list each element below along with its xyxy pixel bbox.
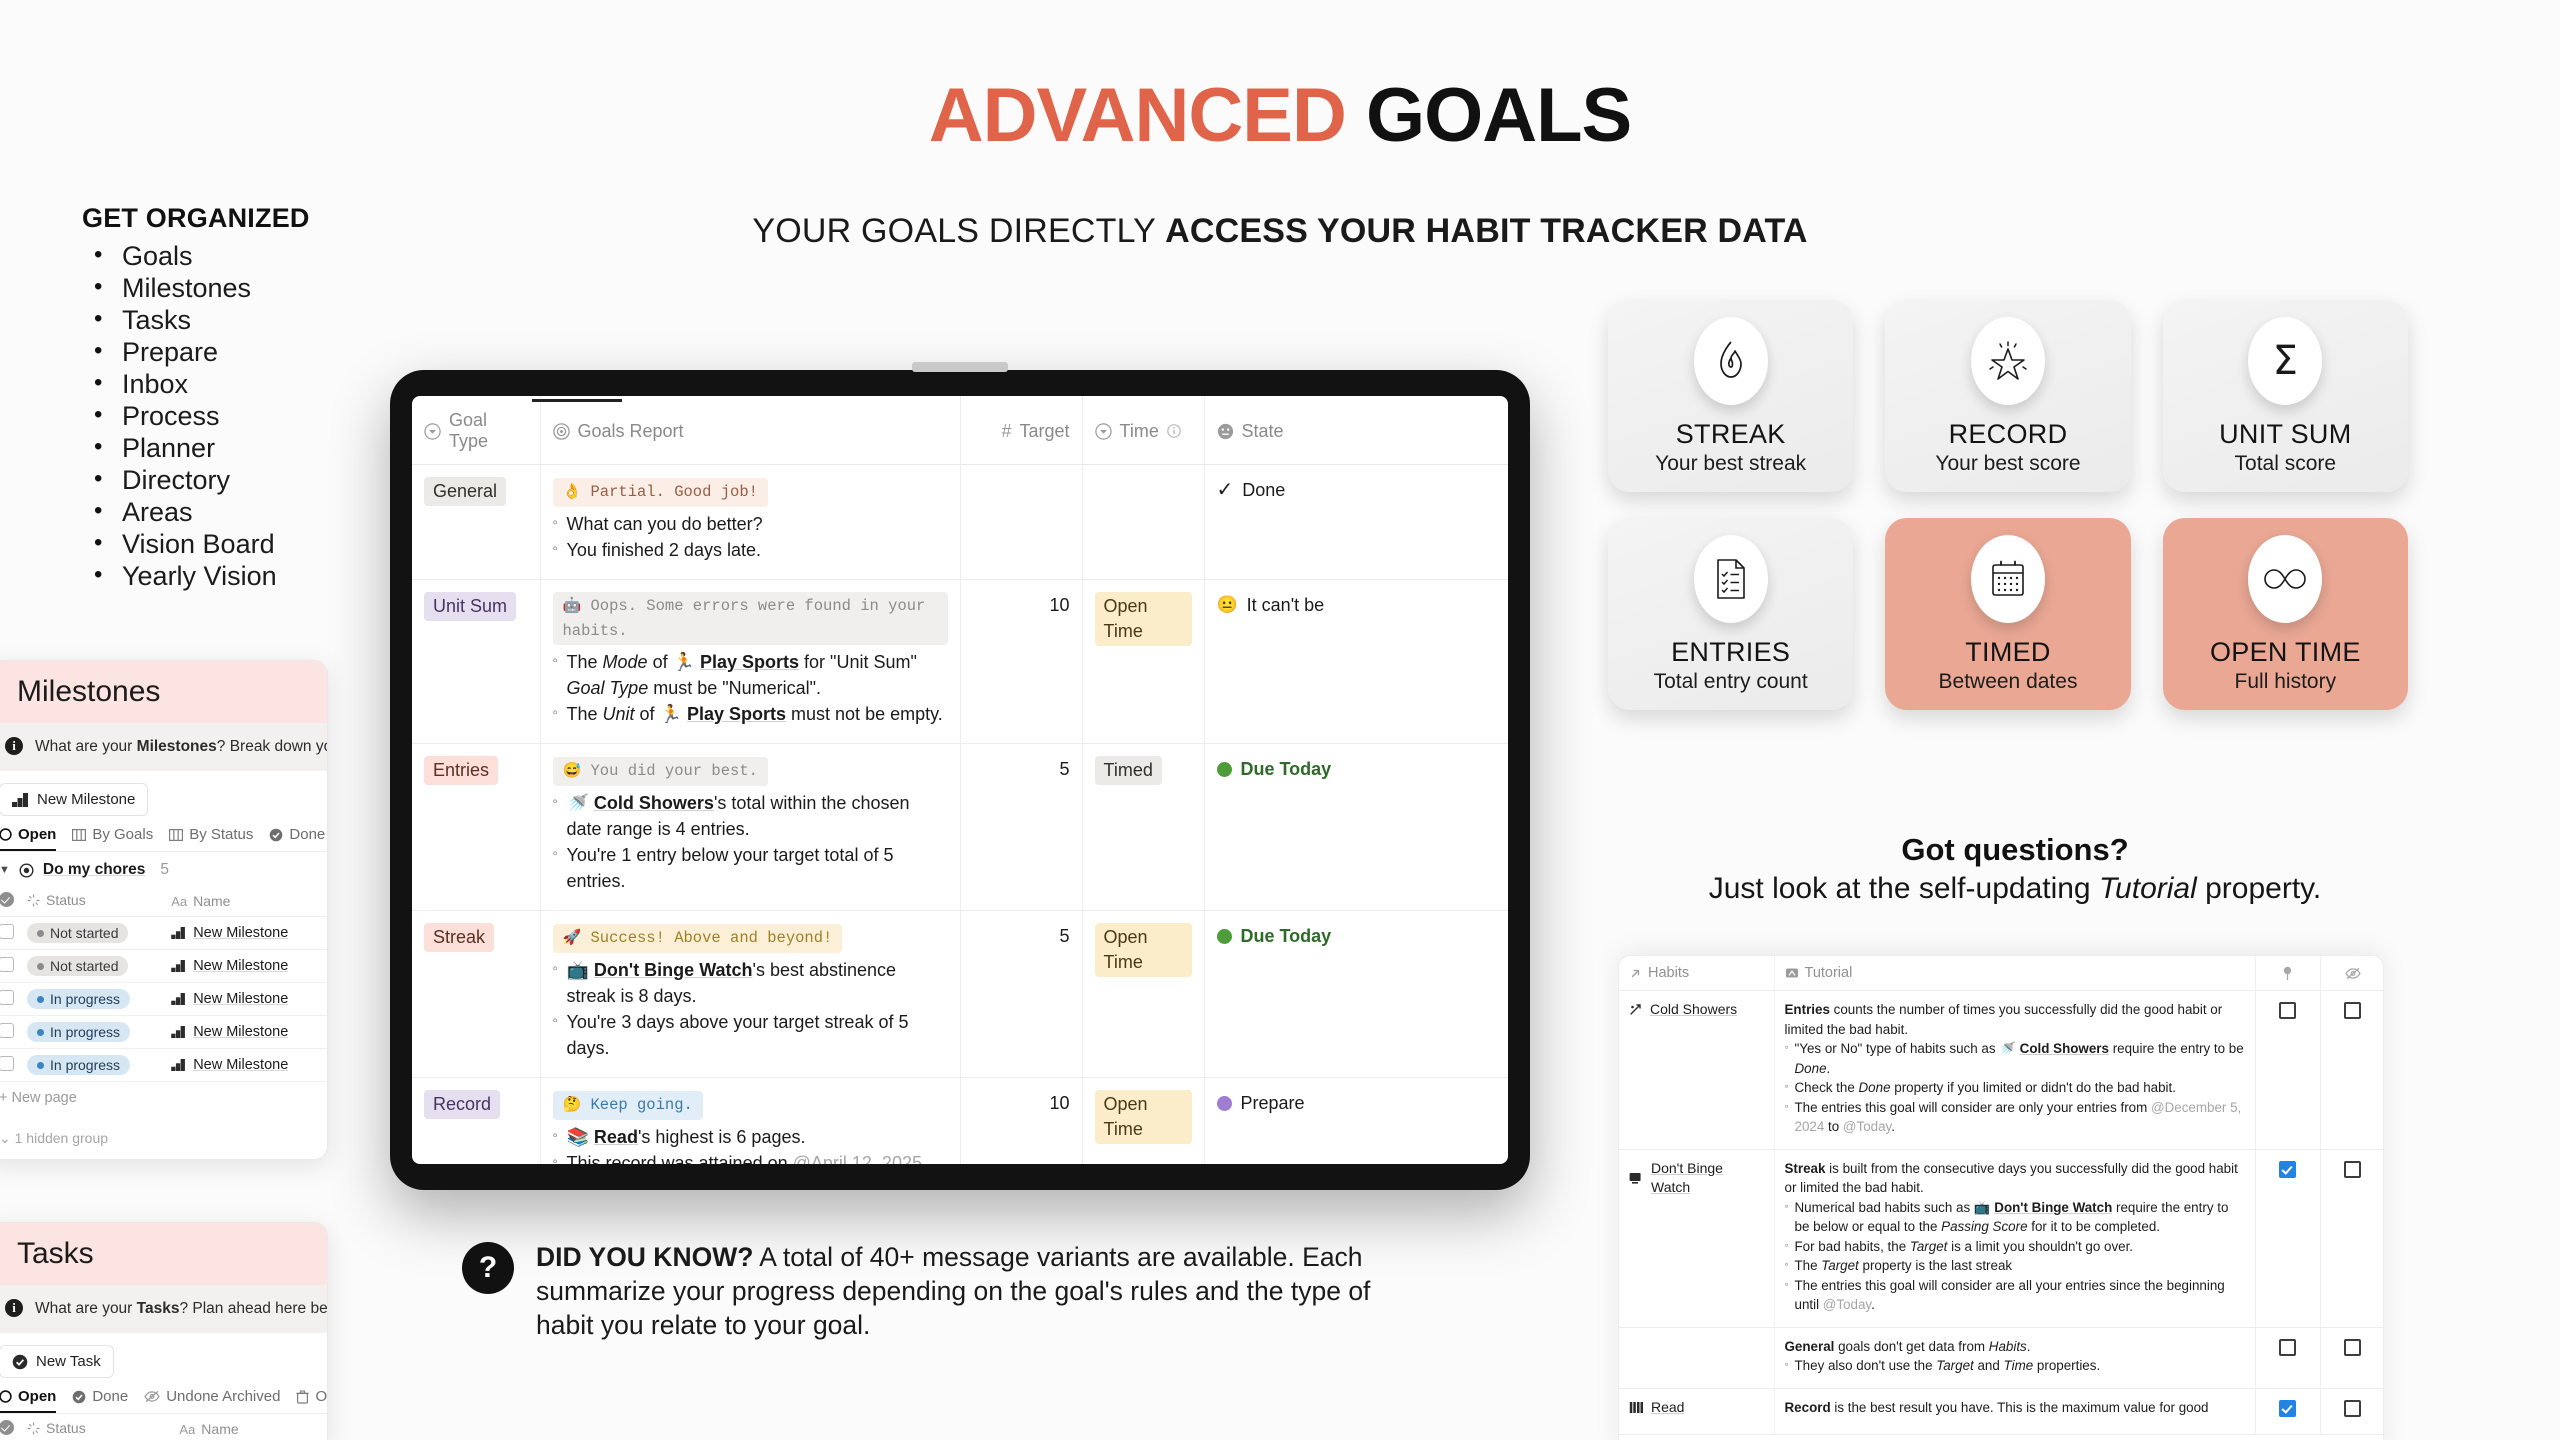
- target-cell[interactable]: 5: [960, 911, 1082, 1078]
- habit-name[interactable]: Read: [1629, 1398, 1764, 1418]
- checklist-doc-icon: [1714, 558, 1748, 600]
- tutorial-pin-cell[interactable]: [2255, 1149, 2320, 1327]
- gq-before: Just look at the self-updating: [1709, 872, 2099, 905]
- shower-icon: [1629, 1003, 1643, 1017]
- goal-type-cell[interactable]: Record: [412, 1078, 540, 1165]
- milestone-icon: [171, 1059, 186, 1071]
- card-icon-bubble: [1971, 535, 2045, 623]
- table-row[interactable]: In progressNew Milestone: [0, 1016, 327, 1049]
- table-row[interactable]: Unit Sum🤖 Oops. Some errors were found i…: [412, 580, 1508, 744]
- tab-open-label: Open: [18, 826, 56, 843]
- state-cell[interactable]: 😐It can't be: [1204, 580, 1508, 744]
- target-cell[interactable]: 5: [960, 744, 1082, 911]
- card-unit-sum-title: UNIT SUM: [2219, 419, 2351, 450]
- state-cell[interactable]: ✓Done: [1204, 465, 1508, 580]
- milestone-name: New Milestone: [193, 925, 288, 941]
- tablet-device: Goal Type Goals Report # Target Time: [390, 370, 1530, 1190]
- card-open-time-subtitle: Full history: [2235, 670, 2337, 694]
- get-organized-item: Milestones: [80, 272, 360, 304]
- page-title-accent: ADVANCED: [929, 73, 1346, 158]
- row-status-cell[interactable]: In progress: [21, 1016, 165, 1049]
- milestones-panel-title: Milestones: [17, 675, 160, 709]
- tutorial-table: Habits Tutorial Cold ShowersEntries coun…: [1619, 956, 2384, 1435]
- table-row[interactable]: ReadRecord is the best result you have. …: [1619, 1388, 2384, 1435]
- got-questions-text: Just look at the self-updating Tutorial …: [1600, 872, 2430, 906]
- goals-report-cell[interactable]: 🤖 Oops. Some errors were found in your h…: [540, 580, 960, 744]
- row-checkbox-cell[interactable]: [0, 917, 21, 950]
- table-row[interactable]: Cold ShowersEntries counts the number of…: [1619, 991, 2384, 1150]
- checkbox[interactable]: [0, 957, 14, 972]
- tab-done[interactable]: Done: [269, 826, 325, 851]
- milestones-col-status-label: Status: [46, 892, 86, 908]
- table-row[interactable]: Not startedNew Milestone: [0, 917, 327, 950]
- tutorial-pin-cell[interactable]: [2255, 1388, 2320, 1435]
- eye-off-icon: [2331, 967, 2376, 980]
- goals-col-time-label: Time: [1120, 421, 1159, 442]
- table-row[interactable]: General goals don't get data from Habits…: [1619, 1327, 2384, 1388]
- check-circle-icon[interactable]: [0, 1420, 14, 1435]
- info-icon[interactable]: [1167, 424, 1181, 438]
- checkbox[interactable]: [2279, 1002, 2296, 1019]
- text-icon: Aa: [179, 1422, 195, 1437]
- milestones-group-row[interactable]: ▼ Do my chores 5: [0, 852, 327, 886]
- board-icon: [72, 829, 86, 841]
- tab-undone-archived[interactable]: Undone Archived: [144, 1388, 280, 1413]
- checkbox[interactable]: [2344, 1400, 2361, 1417]
- tutorial-pin-cell[interactable]: [2255, 991, 2320, 1150]
- got-questions-heading: Got questions?: [1600, 832, 2430, 868]
- report-message: 🚀 Success! Above and beyond!: [553, 924, 843, 953]
- goals-report-cell[interactable]: 🤔 Keep going.📚 Read's highest is 6 pages…: [540, 1078, 960, 1165]
- report-message: 🤔 Keep going.: [553, 1091, 703, 1120]
- status-dot-icon: [1217, 929, 1232, 944]
- time-cell[interactable]: Open Time: [1082, 1078, 1204, 1165]
- goal-type-badge: Entries: [424, 756, 498, 785]
- report-message: 👌 Partial. Good job!: [553, 478, 768, 507]
- tab-by-status[interactable]: By Status: [169, 826, 253, 851]
- get-organized-item: Directory: [80, 464, 360, 496]
- tutorial-lead-text: is built from the consecutive days you s…: [1785, 1161, 2238, 1196]
- message-emoji-icon: 🚀: [563, 930, 582, 947]
- card-entries-subtitle: Total entry count: [1654, 670, 1808, 694]
- tutorial-bullet: "Yes or No" type of habits such as 🚿 Col…: [1785, 1039, 2245, 1078]
- chevron-down-icon[interactable]: ▼: [0, 864, 10, 876]
- target-cell[interactable]: 10: [960, 580, 1082, 744]
- tasks-tabbar[interactable]: Open Done Undone Archived Overdue: [0, 1382, 327, 1414]
- card-open-time[interactable]: OPEN TIME Full history: [2163, 518, 2408, 710]
- milestones-group-count: 5: [160, 861, 169, 879]
- select-all-col[interactable]: [0, 886, 21, 917]
- time-cell[interactable]: Open Time: [1082, 911, 1204, 1078]
- card-unit-sum-subtitle: Total score: [2235, 452, 2337, 476]
- check-circle-icon: [12, 1354, 28, 1370]
- status-icon: [27, 1422, 40, 1435]
- table-row[interactable]: In progressNew Milestone: [0, 1049, 327, 1082]
- tutorial-table-header: Habits Tutorial: [1619, 956, 2384, 991]
- tab-done[interactable]: Done: [72, 1388, 128, 1413]
- tutorial-bullet: The entries this goal will consider are …: [1785, 1276, 2245, 1315]
- tasks-col-name[interactable]: Aa Name: [173, 1414, 327, 1440]
- status-badge: Not started: [27, 923, 128, 943]
- row-status-cell[interactable]: Not started: [21, 950, 165, 983]
- checkbox[interactable]: [0, 924, 14, 939]
- table-row[interactable]: Entries😅 You did your best.🚿 Cold Shower…: [412, 744, 1508, 911]
- goal-type-badge: Streak: [424, 923, 494, 952]
- tutorial-col-hidden[interactable]: [2320, 956, 2384, 991]
- status-dot-icon: [1217, 762, 1232, 777]
- milestones-panel[interactable]: Milestones i What are your Milestones? B…: [0, 660, 328, 1160]
- tab-open[interactable]: Open: [0, 1388, 56, 1413]
- tasks-tab-done-label: Done: [92, 1388, 128, 1405]
- tutorial-habit-cell[interactable]: [1619, 1327, 1774, 1388]
- tutorial-hide-cell[interactable]: [2320, 1327, 2384, 1388]
- card-record-subtitle: Your best score: [1935, 452, 2080, 476]
- circle-icon: [0, 1390, 12, 1403]
- status-badge: ✓Done: [1217, 477, 1497, 503]
- pin-icon: [2266, 966, 2310, 981]
- card-icon-bubble: [1971, 317, 2045, 405]
- target-cell[interactable]: [960, 465, 1082, 580]
- tasks-col-status[interactable]: Status: [21, 1414, 173, 1440]
- milestone-name: New Milestone: [193, 1057, 288, 1073]
- milestones-table-header: Status Aa Name: [0, 886, 327, 917]
- tutorial-hide-cell[interactable]: [2320, 1149, 2384, 1327]
- goal-type-badge: General: [424, 477, 506, 506]
- habit-name[interactable]: Don't Binge Watch: [1629, 1159, 1764, 1198]
- status-dot-icon: [37, 963, 44, 970]
- card-entries[interactable]: ENTRIES Total entry count: [1608, 518, 1853, 710]
- tutorial-col-tutorial[interactable]: Tutorial: [1774, 956, 2255, 991]
- milestones-callout: i What are your Milestones? Break down y…: [0, 723, 327, 771]
- tv-icon: [1629, 1172, 1644, 1185]
- milestones-hidden-group[interactable]: ⌄ 1 hidden group: [0, 1130, 108, 1147]
- goals-col-target[interactable]: # Target: [960, 396, 1082, 465]
- state-label: Prepare: [1241, 1090, 1305, 1116]
- page-title-dark: GOALS: [1366, 73, 1631, 158]
- milestone-icon: [171, 927, 186, 939]
- board-icon: [169, 829, 183, 841]
- new-task-button[interactable]: New Task: [0, 1345, 114, 1378]
- tutorial-text-cell[interactable]: General goals don't get data from Habits…: [1774, 1327, 2255, 1388]
- report-bullet: 📺 Don't Binge Watch's best abstinence st…: [553, 957, 948, 1009]
- tutorial-bullet: The Target property is the last streak: [1785, 1256, 2245, 1276]
- milestones-tabbar[interactable]: Open By Goals By Status Done: [0, 820, 327, 852]
- report-message: 🤖 Oops. Some errors were found in your h…: [553, 592, 948, 645]
- report-bullet: This record was attained on @April 12, 2…: [553, 1150, 948, 1164]
- card-timed[interactable]: TIMED Between dates: [1885, 518, 2130, 710]
- goal-type-badge: Record: [424, 1090, 500, 1119]
- goal-type-cell[interactable]: Unit Sum: [412, 580, 540, 744]
- new-task-label: New Task: [36, 1353, 101, 1370]
- checkbox[interactable]: [2279, 1161, 2296, 1178]
- get-organized-item: Inbox: [80, 368, 360, 400]
- row-checkbox-cell[interactable]: [0, 1016, 21, 1049]
- tutorial-bullet: They also don't use the Target and Time …: [1785, 1356, 2245, 1376]
- report-bullet: The Mode of 🏃 Play Sports for "Unit Sum"…: [553, 649, 948, 701]
- milestones-col-name[interactable]: Aa Name: [165, 886, 327, 917]
- tutorial-pin-cell[interactable]: [2255, 1327, 2320, 1388]
- milestone-icon: [171, 993, 186, 1005]
- goals-col-goals-report-label: Goals Report: [578, 421, 684, 442]
- row-name-cell[interactable]: New Milestone: [165, 917, 327, 950]
- card-streak-subtitle: Your best streak: [1655, 452, 1806, 476]
- report-message: 😅 You did your best.: [553, 757, 768, 786]
- card-timed-subtitle: Between dates: [1939, 670, 2078, 694]
- get-organized-item: Planner: [80, 432, 360, 464]
- tutorial-bullet: Numerical bad habits such as 📺 Don't Bin…: [1785, 1198, 2245, 1237]
- goals-report-cell[interactable]: 🚀 Success! Above and beyond!📺 Don't Bing…: [540, 911, 960, 1078]
- check-circle-icon: [269, 828, 283, 842]
- tasks-tab-open-label: Open: [18, 1388, 56, 1405]
- goal-type-cell[interactable]: General: [412, 465, 540, 580]
- status-badge: In progress: [27, 1022, 130, 1042]
- report-bullet: 🚿 Cold Showers's total within the chosen…: [553, 790, 948, 842]
- status-badge: Prepare: [1217, 1090, 1497, 1116]
- milestones-group-name: Do my chores: [43, 861, 146, 879]
- milestones-hidden-group-label: 1 hidden group: [15, 1130, 108, 1146]
- message-emoji-icon: 🤔: [563, 1097, 582, 1114]
- checkbox[interactable]: [2279, 1339, 2296, 1356]
- neutral-face-icon: 😐: [1217, 592, 1238, 618]
- formula-target-icon: [553, 423, 570, 440]
- tasks-panel[interactable]: Tasks i What are your Tasks? Plan ahead …: [0, 1222, 328, 1440]
- status-icon: [27, 894, 40, 907]
- time-cell[interactable]: [1082, 465, 1204, 580]
- card-entries-title: ENTRIES: [1671, 637, 1790, 668]
- question-mark-icon: ?: [462, 1242, 514, 1294]
- info-icon: i: [5, 1299, 23, 1317]
- goals-table-header: Goal Type Goals Report # Target Time: [412, 396, 1508, 465]
- page-subtitle: YOUR GOALS DIRECTLY ACCESS YOUR HABIT TR…: [0, 212, 2560, 251]
- table-row[interactable]: Record🤔 Keep going.📚 Read's highest is 6…: [412, 1078, 1508, 1165]
- plus-icon: +: [0, 1090, 7, 1106]
- formula-icon: [1785, 966, 1799, 980]
- goals-col-goal-type[interactable]: Goal Type: [412, 396, 540, 465]
- checkbox[interactable]: [2279, 1400, 2296, 1417]
- status-badge: Not started: [27, 956, 128, 976]
- tutorial-habit-cell[interactable]: Cold Showers: [1619, 991, 1774, 1150]
- check-circle-icon[interactable]: [0, 892, 14, 907]
- goals-report-cell[interactable]: 😅 You did your best.🚿 Cold Showers's tot…: [540, 744, 960, 911]
- row-checkbox-cell[interactable]: [0, 1049, 21, 1082]
- status-badge: Due Today: [1217, 923, 1497, 949]
- table-row[interactable]: Don't Binge WatchStreak is built from th…: [1619, 1149, 2384, 1327]
- card-streak[interactable]: STREAK Your best streak: [1608, 300, 1853, 492]
- time-badge: Open Time: [1095, 923, 1192, 977]
- row-checkbox-cell[interactable]: [0, 950, 21, 983]
- report-bullet: You're 1 entry below your target total o…: [553, 842, 948, 894]
- tutorial-hide-cell[interactable]: [2320, 1388, 2384, 1435]
- eye-off-icon: [144, 1390, 160, 1403]
- milestone-name: New Milestone: [193, 991, 288, 1007]
- circle-icon: [0, 828, 12, 841]
- table-row[interactable]: Streak🚀 Success! Above and beyond!📺 Don'…: [412, 911, 1508, 1078]
- state-cell[interactable]: Due Today: [1204, 911, 1508, 1078]
- milestone-name: New Milestone: [193, 1024, 288, 1040]
- checkbox[interactable]: [2344, 1161, 2361, 1178]
- status-badge: In progress: [27, 1055, 130, 1075]
- milestones-callout-text: What are your Milestones? Break down you…: [35, 737, 327, 757]
- check-circle-icon: [72, 1390, 86, 1404]
- tutorial-text-cell[interactable]: Record is the best result you have. This…: [1774, 1388, 2255, 1435]
- goals-col-time[interactable]: Time: [1082, 396, 1204, 465]
- goals-col-state[interactable]: State: [1204, 396, 1508, 465]
- time-badge: Timed: [1095, 756, 1162, 785]
- tutorial-bullet: For bad habits, the Target is a limit yo…: [1785, 1237, 2245, 1257]
- tasks-col-name-label: Name: [201, 1421, 238, 1437]
- check-icon: ✓: [1217, 477, 1234, 503]
- row-status-cell[interactable]: In progress: [21, 983, 165, 1016]
- report-bullet: You finished 2 days late.: [553, 537, 948, 563]
- tasks-callout: i What are your Tasks? Plan ahead here b…: [0, 1285, 327, 1333]
- goals-report-cell[interactable]: 👌 Partial. Good job!What can you do bett…: [540, 465, 960, 580]
- status-dot-icon: [37, 996, 44, 1003]
- get-organized-item: Goals: [80, 240, 360, 272]
- tutorial-hide-cell[interactable]: [2320, 991, 2384, 1150]
- target-cell[interactable]: 10: [960, 1078, 1082, 1165]
- tutorial-habit-cell[interactable]: Don't Binge Watch: [1619, 1149, 1774, 1327]
- tutorial-lead-bold: General: [1785, 1339, 1835, 1354]
- tutorial-text-cell[interactable]: Streak is built from the consecutive day…: [1774, 1149, 2255, 1327]
- status-dot-icon: [1217, 1096, 1232, 1111]
- feature-cards: STREAK Your best streak RECORD Your best…: [1608, 300, 2408, 710]
- checkbox[interactable]: [2344, 1339, 2361, 1356]
- report-bullet: 📚 Read's highest is 6 pages.: [553, 1124, 948, 1150]
- state-label: Done: [1242, 477, 1285, 503]
- page-title: ADVANCED GOALS: [0, 78, 2560, 154]
- status-badge: 😐It can't be: [1217, 592, 1497, 618]
- get-organized-heading: GET ORGANIZED: [82, 203, 360, 234]
- infinity-icon: [2262, 565, 2308, 593]
- tab-open[interactable]: Open: [0, 826, 56, 851]
- report-bullet: The Unit of 🏃 Play Sports must not be em…: [553, 701, 948, 727]
- select-icon: [424, 423, 441, 440]
- milestones-col-name-label: Name: [193, 893, 230, 909]
- status-dot-icon: [37, 1062, 44, 1069]
- message-emoji-icon: 😅: [563, 763, 582, 780]
- goals-table: Goal Type Goals Report # Target Time: [412, 396, 1508, 1164]
- page-subtitle-plain: YOUR GOALS DIRECTLY: [752, 212, 1165, 250]
- new-milestone-label: New Milestone: [37, 791, 135, 808]
- message-emoji-icon: 👌: [563, 484, 582, 501]
- get-organized-item: Vision Board: [80, 528, 360, 560]
- goals-col-state-label: State: [1242, 421, 1284, 442]
- tutorial-col-pin[interactable]: [2255, 956, 2320, 991]
- calendar-icon: [1989, 559, 2027, 599]
- card-record-title: RECORD: [1949, 419, 2068, 450]
- tutorial-bullet: Check the Done property if you limited o…: [1785, 1078, 2245, 1098]
- chevron-down-icon: ⌄: [0, 1130, 11, 1146]
- tutorial-lead-text: counts the number of times you successfu…: [1785, 1002, 2223, 1037]
- new-milestone-button[interactable]: New Milestone: [0, 783, 148, 816]
- tasks-col-status-label: Status: [46, 1420, 86, 1436]
- milestone-icon: [171, 960, 186, 972]
- checkbox[interactable]: [0, 1056, 14, 1071]
- row-checkbox-cell[interactable]: [0, 983, 21, 1016]
- state-cell[interactable]: Due Today: [1204, 744, 1508, 911]
- milestones-col-status[interactable]: Status: [21, 886, 165, 917]
- got-questions-block: Got questions? Just look at the self-upd…: [1600, 832, 2430, 906]
- card-streak-title: STREAK: [1676, 419, 1786, 450]
- tasks-panel-hero: Tasks: [0, 1223, 327, 1285]
- active-view-underline: [532, 399, 622, 402]
- gq-after: property.: [2197, 872, 2322, 905]
- tutorial-lead-bold: Streak: [1785, 1161, 1826, 1176]
- get-organized-list: GoalsMilestonesTasksPrepareInboxProcessP…: [80, 240, 360, 592]
- book-icon: [1629, 1401, 1644, 1414]
- text-icon: Aa: [171, 894, 187, 909]
- habit-name[interactable]: Cold Showers: [1629, 1000, 1764, 1020]
- table-row[interactable]: In progressNew Milestone: [0, 983, 327, 1016]
- tasks-select-all-col[interactable]: [0, 1414, 21, 1440]
- row-name-cell[interactable]: New Milestone: [165, 1016, 327, 1049]
- tab-by-goals[interactable]: By Goals: [72, 826, 153, 851]
- card-open-time-title: OPEN TIME: [2210, 637, 2361, 668]
- face-icon: [1217, 423, 1234, 440]
- row-status-cell[interactable]: In progress: [21, 1049, 165, 1082]
- checkbox[interactable]: [0, 1023, 14, 1038]
- tab-done-label: Done: [289, 826, 325, 843]
- checkbox[interactable]: [0, 990, 14, 1005]
- table-row[interactable]: General👌 Partial. Good job!What can you …: [412, 465, 1508, 580]
- target-icon: [19, 863, 34, 878]
- flame-icon: [1713, 340, 1749, 382]
- table-row[interactable]: Not startedNew Milestone: [0, 950, 327, 983]
- row-name-cell[interactable]: New Milestone: [165, 983, 327, 1016]
- state-label: Due Today: [1241, 756, 1332, 782]
- time-cell[interactable]: Open Time: [1082, 580, 1204, 744]
- tab-overdue[interactable]: Overdue: [296, 1388, 327, 1413]
- report-bullet: What can you do better?: [553, 511, 948, 537]
- tasks-panel-title: Tasks: [17, 1237, 94, 1271]
- card-icon-bubble: [1694, 535, 1768, 623]
- row-status-cell[interactable]: Not started: [21, 917, 165, 950]
- state-cell[interactable]: Prepare: [1204, 1078, 1508, 1165]
- time-cell[interactable]: Timed: [1082, 744, 1204, 911]
- card-unit-sum[interactable]: Σ UNIT SUM Total score: [2163, 300, 2408, 492]
- did-you-know-text: DID YOU KNOW? A total of 40+ message var…: [536, 1240, 1382, 1342]
- row-name-cell[interactable]: New Milestone: [165, 950, 327, 983]
- row-name-cell[interactable]: New Milestone: [165, 1049, 327, 1082]
- tutorial-text-cell[interactable]: Entries counts the number of times you s…: [1774, 991, 2255, 1150]
- checkbox[interactable]: [2344, 1002, 2361, 1019]
- status-badge: In progress: [27, 989, 130, 1009]
- tutorial-col-habits-label: Habits: [1648, 965, 1689, 981]
- status-dot-icon: [37, 1029, 44, 1036]
- get-organized-section: GET ORGANIZED GoalsMilestonesTasksPrepar…: [80, 203, 360, 592]
- did-you-know-block: ? DID YOU KNOW? A total of 40+ message v…: [462, 1240, 1382, 1342]
- milestones-new-page[interactable]: + New page: [0, 1082, 327, 1114]
- goal-type-cell[interactable]: Entries: [412, 744, 540, 911]
- tutorial-table-panel[interactable]: Habits Tutorial Cold ShowersEntries coun…: [1618, 955, 2384, 1440]
- number-icon: #: [1001, 421, 1011, 442]
- tutorial-habit-cell[interactable]: Read: [1619, 1388, 1774, 1435]
- tutorial-col-habits[interactable]: Habits: [1619, 956, 1774, 991]
- goals-col-goals-report[interactable]: Goals Report: [540, 396, 960, 465]
- tablet-screen[interactable]: Goal Type Goals Report # Target Time: [412, 396, 1508, 1164]
- get-organized-item: Process: [80, 400, 360, 432]
- state-label: It can't be: [1247, 592, 1324, 618]
- info-icon: i: [5, 737, 23, 755]
- card-record[interactable]: RECORD Your best score: [1885, 300, 2130, 492]
- goal-type-cell[interactable]: Streak: [412, 911, 540, 1078]
- state-label: Due Today: [1241, 923, 1332, 949]
- goals-col-target-label: Target: [1019, 421, 1069, 442]
- get-organized-item: Yearly Vision: [80, 560, 360, 592]
- tasks-table: Status Aa Name: [0, 1414, 327, 1440]
- report-bullet: You're 3 days above your target streak o…: [553, 1009, 948, 1061]
- gq-italic: Tutorial: [2099, 872, 2197, 905]
